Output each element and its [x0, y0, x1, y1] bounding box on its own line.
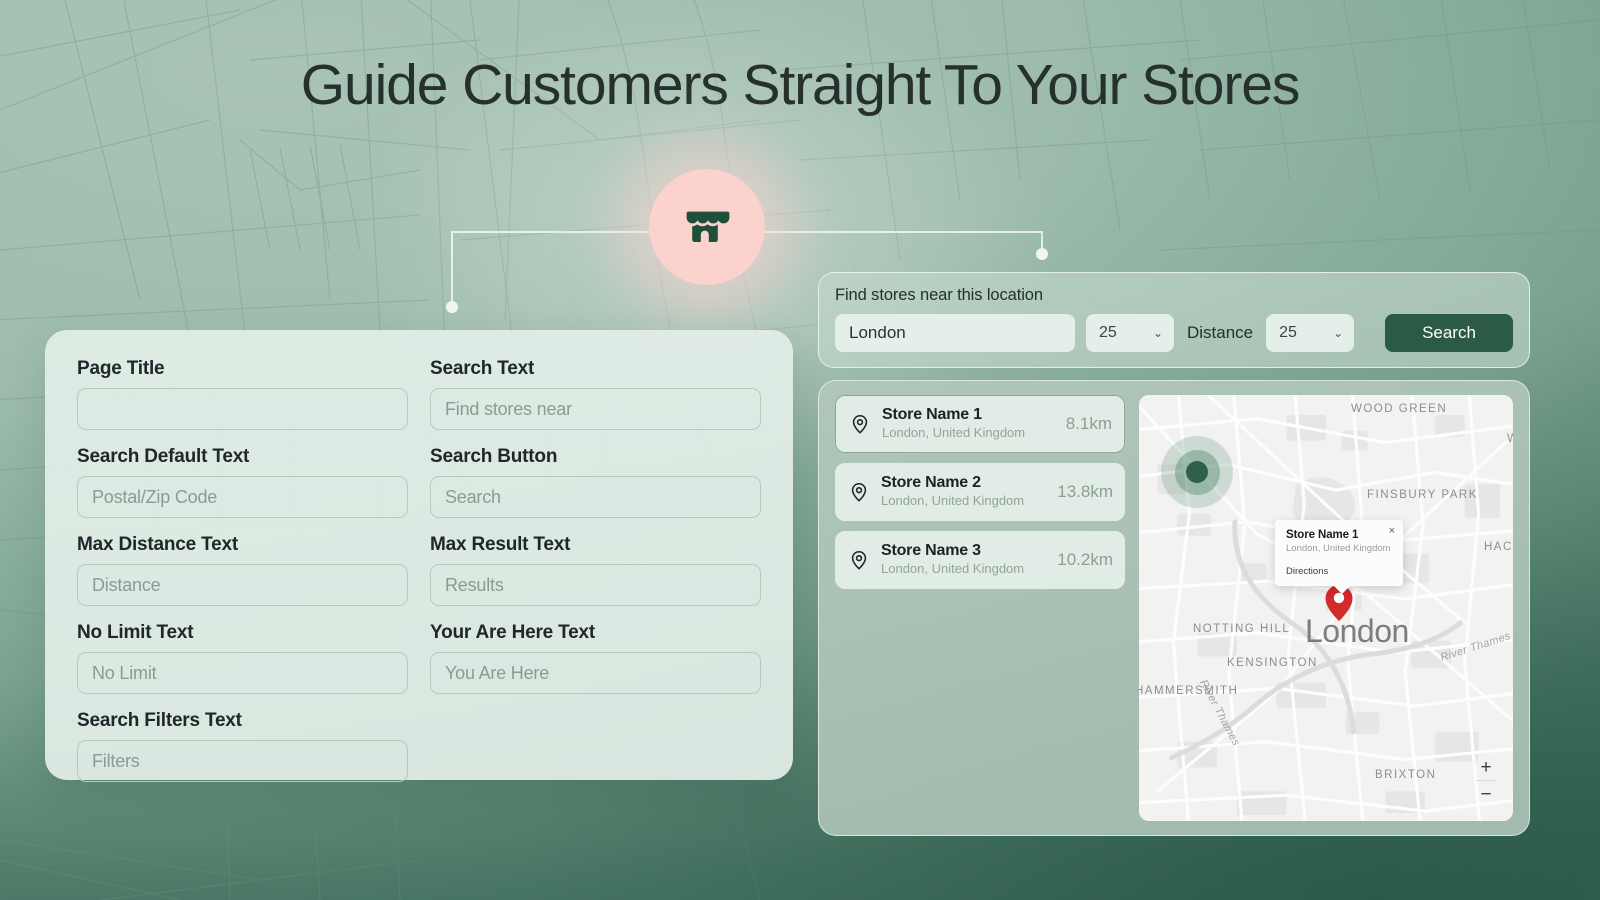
store-meta: Store Name 2 London, United Kingdom: [881, 474, 1046, 510]
popup-directions-link[interactable]: Directions: [1286, 566, 1393, 577]
search-caption: Find stores near this location: [835, 286, 1513, 305]
max-results-select[interactable]: 25 ⌄: [1086, 314, 1174, 352]
field-label: Max Distance Text: [77, 534, 408, 556]
field-search-text: Search Text Find stores near: [430, 358, 761, 430]
map-info-popup: × Store Name 1 London, United Kingdom Di…: [1275, 520, 1403, 586]
map-pin-icon: [849, 413, 871, 435]
store-meta: Store Name 1 London, United Kingdom: [882, 406, 1055, 442]
close-icon[interactable]: ×: [1389, 526, 1395, 537]
chevron-down-icon: ⌄: [1153, 326, 1163, 340]
map-label-brixton: BRIXTON: [1375, 769, 1436, 781]
user-location-core: [1186, 461, 1208, 483]
store-search-panel: Find stores near this location London 25…: [818, 272, 1530, 368]
search-controls-row: London 25 ⌄ Distance 25 ⌄ Search: [835, 314, 1513, 352]
field-label: Search Default Text: [77, 446, 408, 468]
field-label: No Limit Text: [77, 622, 408, 644]
map-canvas[interactable]: WOOD GREEN WAL FINSBURY PARK HACKNEY NOT…: [1139, 395, 1513, 821]
search-button-input[interactable]: Search: [430, 476, 761, 518]
store-name: Store Name 2: [881, 474, 1046, 492]
field-label: Page Title: [77, 358, 408, 380]
field-max-result-text: Max Result Text Results: [430, 534, 761, 606]
user-location-mid-ring: [1175, 450, 1220, 495]
store-address: London, United Kingdom: [882, 425, 1055, 442]
field-max-distance-text: Max Distance Text Distance: [77, 534, 408, 606]
store-address: London, United Kingdom: [881, 561, 1046, 578]
settings-panel: Page Title Search Text Find stores near …: [45, 330, 793, 780]
field-label: Search Filters Text: [77, 710, 408, 732]
storefront-badge: [649, 169, 765, 285]
zoom-out-button[interactable]: −: [1473, 781, 1499, 807]
results-panel: Store Name 1 London, United Kingdom 8.1k…: [818, 380, 1530, 836]
map-label-london: London: [1305, 613, 1409, 650]
storefront-icon: [683, 203, 731, 251]
store-results-list: Store Name 1 London, United Kingdom 8.1k…: [835, 395, 1125, 821]
zoom-in-button[interactable]: +: [1473, 754, 1499, 780]
map-label-kensington: KENSINGTON: [1227, 657, 1318, 669]
store-result-card[interactable]: Store Name 2 London, United Kingdom 13.8…: [835, 463, 1125, 521]
store-result-card[interactable]: Store Name 1 London, United Kingdom 8.1k…: [835, 395, 1125, 453]
location-input[interactable]: London: [835, 314, 1075, 352]
page-title-input[interactable]: [77, 388, 408, 430]
map-label-hackney: HACKNEY: [1484, 541, 1513, 553]
settings-field-grid: Page Title Search Text Find stores near …: [77, 358, 761, 798]
distance-value: 25: [1279, 324, 1297, 342]
field-search-default-text: Search Default Text Postal/Zip Code: [77, 446, 408, 518]
max-distance-text-input[interactable]: Distance: [77, 564, 408, 606]
map-label-finsbury-park: FINSBURY PARK: [1367, 489, 1478, 501]
search-filters-text-input[interactable]: Filters: [77, 740, 408, 782]
field-search-button: Search Button Search: [430, 446, 761, 518]
field-label: Your Are Here Text: [430, 622, 761, 644]
chevron-down-icon: ⌄: [1333, 326, 1343, 340]
store-distance: 8.1km: [1066, 414, 1112, 434]
popup-store-address: London, United Kingdom: [1286, 543, 1393, 554]
store-distance: 10.2km: [1057, 550, 1113, 570]
map-label-hammersmith: HAMMERSMITH: [1139, 685, 1238, 697]
user-location-marker: [1161, 436, 1233, 508]
map-label-notting-hill: NOTTING HILL: [1193, 623, 1290, 635]
store-name: Store Name 1: [882, 406, 1055, 424]
max-results-value: 25: [1099, 324, 1117, 342]
popup-store-name: Store Name 1: [1286, 529, 1393, 541]
distance-label: Distance: [1185, 323, 1255, 343]
distance-select[interactable]: 25 ⌄: [1266, 314, 1354, 352]
map-pin-icon: [848, 549, 870, 571]
max-result-text-input[interactable]: Results: [430, 564, 761, 606]
search-default-text-input[interactable]: Postal/Zip Code: [77, 476, 408, 518]
map-pin-icon: [848, 481, 870, 503]
store-result-card[interactable]: Store Name 3 London, United Kingdom 10.2…: [835, 531, 1125, 589]
map-zoom-controls: + −: [1473, 754, 1499, 807]
app-stage: Guide Customers Straight To Your Stores …: [0, 0, 1600, 900]
field-you-are-here-text: Your Are Here Text You Are Here: [430, 622, 761, 694]
search-button[interactable]: Search: [1385, 314, 1513, 352]
field-label: Search Button: [430, 446, 761, 468]
you-are-here-text-input[interactable]: You Are Here: [430, 652, 761, 694]
field-search-filters-text: Search Filters Text Filters: [77, 710, 408, 782]
store-name: Store Name 3: [881, 542, 1046, 560]
map-label-wood-green: WOOD GREEN: [1351, 403, 1447, 415]
field-no-limit-text: No Limit Text No Limit: [77, 622, 408, 694]
search-text-input[interactable]: Find stores near: [430, 388, 761, 430]
store-distance: 13.8km: [1057, 482, 1113, 502]
store-address: London, United Kingdom: [881, 493, 1046, 510]
map-label-walthamstow: WAL: [1507, 433, 1513, 445]
field-label: Max Result Text: [430, 534, 761, 556]
no-limit-text-input[interactable]: No Limit: [77, 652, 408, 694]
field-page-title: Page Title: [77, 358, 408, 430]
field-label: Search Text: [430, 358, 761, 380]
page-title: Guide Customers Straight To Your Stores: [0, 52, 1600, 118]
store-meta: Store Name 3 London, United Kingdom: [881, 542, 1046, 578]
